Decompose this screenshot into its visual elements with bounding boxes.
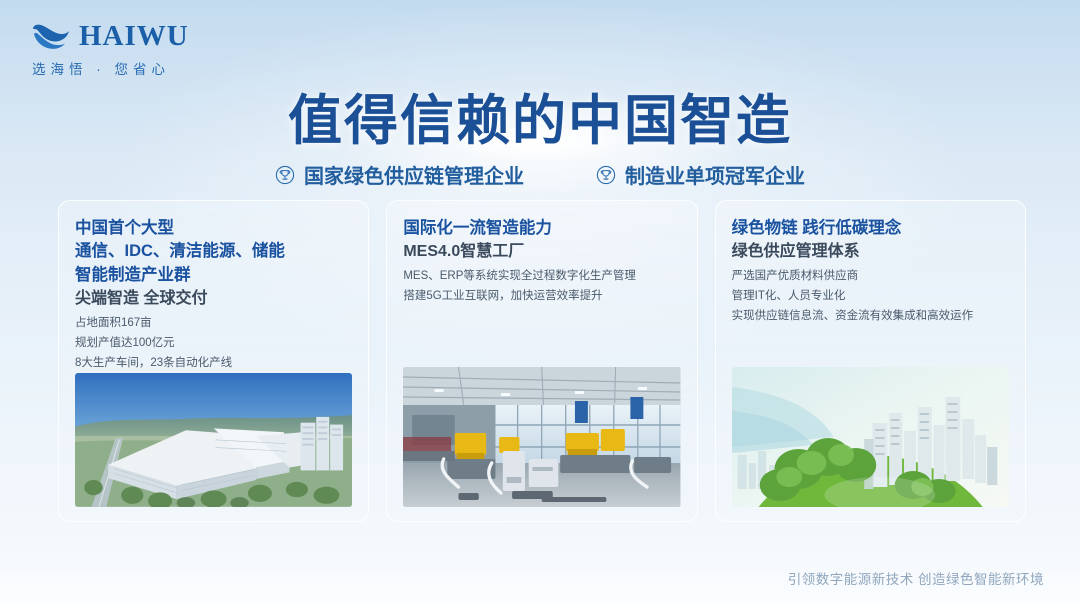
award-badges: 国家绿色供应链管理企业 制造业单项冠军企业 (0, 160, 1080, 189)
award-badge-manufacturing-champion: 制造业单项冠军企业 (596, 160, 805, 189)
card-details: 严选国产优质材料供应商 管理IT化、人员专业化 实现供应链信息流、资金流有效集成… (732, 267, 1009, 326)
logo-wordmark: HAIWU (79, 22, 189, 51)
logo-tagline: 选海悟 · 您省心 (32, 58, 170, 78)
card-detail-line: 8大生产车间，23条自动化产线 (75, 354, 352, 374)
brand-logo: HAIWU 选海悟 · 您省心 (30, 22, 189, 78)
card-detail-line: 规划产值达100亿元 (75, 334, 352, 354)
trophy-circle-icon (275, 165, 295, 185)
card-image-factory-workshop (403, 367, 680, 507)
card-heading-line: 国际化一流智造能力 (403, 217, 680, 240)
card-subheading: 绿色供应管理体系 (732, 241, 1009, 264)
card-detail-line: MES、ERP等系统实现全过程数字化生产管理 (403, 267, 680, 287)
card-heading-line: 中国首个大型 (75, 217, 352, 240)
card-heading-line: 智能制造产业群 (75, 264, 352, 287)
trophy-circle-icon (596, 165, 616, 185)
card-detail-line: 管理IT化、人员专业化 (732, 287, 1009, 307)
card-image-industrial-campus (75, 373, 352, 507)
card-detail-line: 实现供应链信息流、资金流有效集成和高效运作 (732, 307, 1009, 327)
page-title: 值得信赖的中国智造 (0, 76, 1080, 155)
feature-card-smart-factory[interactable]: 国际化一流智造能力 MES4.0智慧工厂 MES、ERP等系统实现全过程数字化生… (386, 200, 697, 522)
wave-mark-icon (30, 23, 70, 51)
card-heading-line: 通信、IDC、清洁能源、储能 (75, 240, 352, 263)
card-details: MES、ERP等系统实现全过程数字化生产管理 搭建5G工业互联网，加快运营效率提… (403, 267, 680, 307)
card-heading-line: 绿色物链 践行低碳理念 (732, 217, 1009, 240)
card-subheading: 尖端智造 全球交付 (75, 288, 352, 311)
award-badge-green-supply-chain: 国家绿色供应链管理企业 (275, 160, 524, 189)
card-subheading: MES4.0智慧工厂 (403, 241, 680, 264)
card-detail-line: 严选国产优质材料供应商 (732, 267, 1009, 287)
card-detail-line: 占地面积167亩 (75, 314, 352, 334)
award-badge-label: 制造业单项冠军企业 (625, 160, 805, 189)
feature-card-industrial-cluster[interactable]: 中国首个大型 通信、IDC、清洁能源、储能 智能制造产业群 尖端智造 全球交付 … (58, 200, 369, 522)
feature-card-green-supply[interactable]: 绿色物链 践行低碳理念 绿色供应管理体系 严选国产优质材料供应商 管理IT化、人… (715, 200, 1026, 522)
award-badge-label: 国家绿色供应链管理企业 (304, 160, 524, 189)
footer-slogan: 引领数字能源新技术 创造绿色智能新环境 (788, 568, 1044, 588)
logo-row: HAIWU (30, 22, 189, 51)
feature-cards: 中国首个大型 通信、IDC、清洁能源、储能 智能制造产业群 尖端智造 全球交付 … (58, 200, 1026, 522)
card-image-green-city-globe (732, 367, 1009, 507)
card-details: 占地面积167亩 规划产值达100亿元 8大生产车间，23条自动化产线 (75, 314, 352, 373)
card-detail-line: 搭建5G工业互联网，加快运营效率提升 (403, 287, 680, 307)
